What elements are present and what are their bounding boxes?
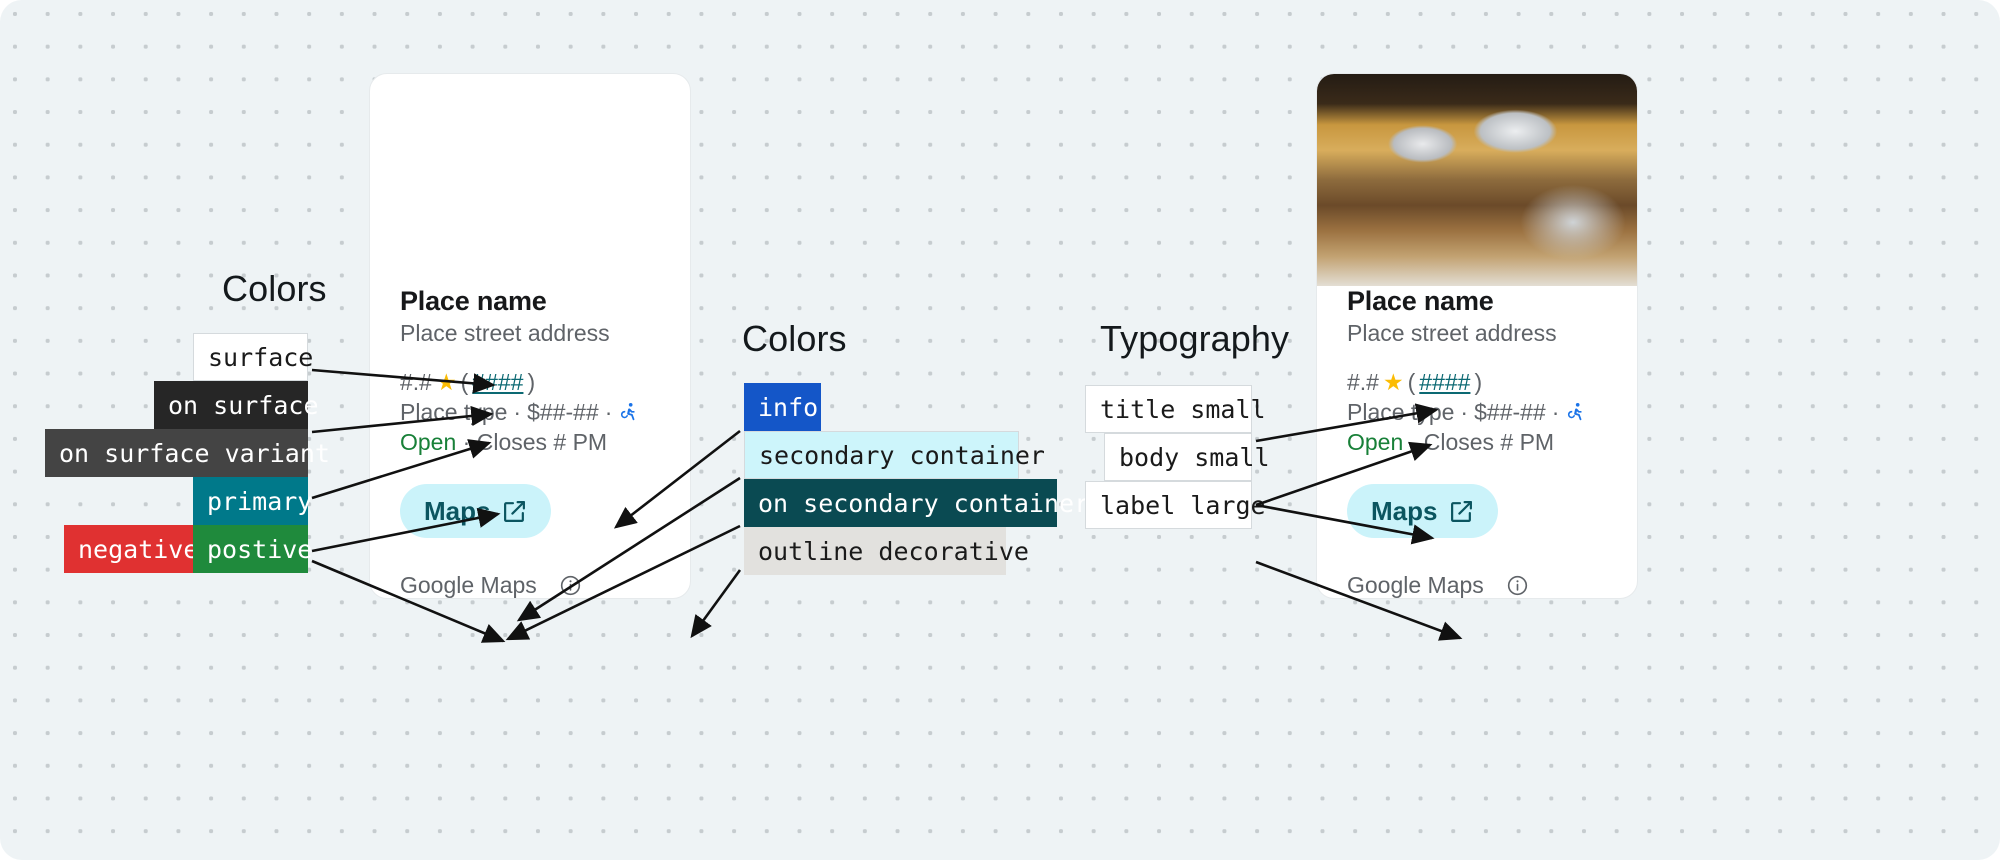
connector-outline-decorative xyxy=(692,570,740,636)
color-chip-on-surface-variant[interactable]: on surface variant xyxy=(45,429,308,477)
color-chip-label: surface xyxy=(208,345,313,370)
rating-paren-open: ( xyxy=(461,369,469,396)
color-chip-label: primary xyxy=(207,489,312,514)
closing-time: Closes # PM xyxy=(1424,429,1554,455)
star-icon: ★ xyxy=(1383,369,1404,396)
color-chip-negative[interactable]: negative xyxy=(64,525,193,573)
open-in-new-icon xyxy=(502,499,527,524)
price-range: $##-## xyxy=(527,399,599,426)
info-circle-icon[interactable] xyxy=(1506,574,1529,597)
place-street-address: Place street address xyxy=(400,320,660,347)
open-status: Open xyxy=(1347,429,1403,455)
maps-button-label: Maps xyxy=(1371,496,1437,527)
rating-value: #.# xyxy=(400,369,432,396)
place-rating-row: #.# ★ (####) xyxy=(400,369,660,396)
place-name: Place name xyxy=(400,286,660,317)
color-chip-primary[interactable]: primary xyxy=(193,477,308,525)
closing-time: Closes # PM xyxy=(477,429,607,455)
color-chip-label: secondary container xyxy=(759,443,1045,468)
color-chip-label: info xyxy=(758,395,818,420)
open-in-new-icon xyxy=(1449,499,1474,524)
section-title-typography: Typography xyxy=(1100,318,1289,360)
place-photo-bakery xyxy=(370,74,690,286)
place-hours-row: Open · Closes # PM xyxy=(400,429,660,456)
color-chip-secondary-container[interactable]: secondary container xyxy=(744,431,1019,479)
color-chip-label: postive xyxy=(207,537,312,562)
place-photo-cafe xyxy=(1317,74,1637,286)
meta-separator-2: · xyxy=(605,399,613,426)
color-chip-label: on secondary container xyxy=(758,491,1089,516)
place-rating-row: #.# ★ (####) xyxy=(1347,369,1607,396)
place-name: Place name xyxy=(1347,286,1607,317)
place-card-right[interactable]: Place name Place street address #.# ★ (#… xyxy=(1316,73,1638,599)
type-chip-label: title small xyxy=(1100,397,1266,422)
card-footer: Google Maps xyxy=(400,572,660,599)
price-range: $##-## xyxy=(1474,399,1546,426)
place-meta-row: Place type · $##-## · xyxy=(400,399,660,426)
rating-paren-close: ) xyxy=(527,369,535,396)
type-chip-label: body small xyxy=(1119,445,1270,470)
place-type: Place type xyxy=(400,399,507,426)
color-chip-label: outline decorative xyxy=(758,539,1029,564)
footer-attribution: Google Maps xyxy=(400,572,537,599)
maps-button[interactable]: Maps xyxy=(400,484,551,538)
color-chip-info[interactable]: info xyxy=(744,383,821,431)
meta-separator-2: · xyxy=(1552,399,1560,426)
color-chip-on-secondary-container[interactable]: on secondary container xyxy=(744,479,1057,527)
hours-separator: · xyxy=(463,429,471,455)
type-chip-body-small[interactable]: body small xyxy=(1104,433,1252,481)
section-title-colors-left: Colors xyxy=(222,268,327,310)
type-chip-title-small[interactable]: title small xyxy=(1085,385,1252,433)
meta-separator-1: · xyxy=(513,399,521,426)
wheelchair-accessible-icon xyxy=(1565,402,1586,423)
color-chip-on-surface[interactable]: on surface xyxy=(154,381,308,429)
color-chip-surface[interactable]: surface xyxy=(193,333,308,381)
maps-button[interactable]: Maps xyxy=(1347,484,1498,538)
place-card-body: Place name Place street address #.# ★ (#… xyxy=(1317,286,1637,599)
rating-paren-open: ( xyxy=(1408,369,1416,396)
place-card-body: Place name Place street address #.# ★ (#… xyxy=(370,286,690,599)
open-status: Open xyxy=(400,429,456,455)
place-street-address: Place street address xyxy=(1347,320,1607,347)
star-icon: ★ xyxy=(436,369,457,396)
hours-separator: · xyxy=(1410,429,1418,455)
color-chip-label: on surface variant xyxy=(59,441,330,466)
maps-button-label: Maps xyxy=(424,496,490,527)
meta-separator-1: · xyxy=(1460,399,1468,426)
rating-value: #.# xyxy=(1347,369,1379,396)
place-type: Place type xyxy=(1347,399,1454,426)
footer-attribution: Google Maps xyxy=(1347,572,1484,599)
color-chip-postive[interactable]: postive xyxy=(193,525,308,573)
review-count-link[interactable]: #### xyxy=(1419,369,1470,396)
place-card-center[interactable]: Place name Place street address #.# ★ (#… xyxy=(369,73,691,599)
wheelchair-accessible-icon xyxy=(618,402,639,423)
color-chip-label: on surface xyxy=(168,393,319,418)
place-meta-row: Place type · $##-## · xyxy=(1347,399,1607,426)
place-hours-row: Open · Closes # PM xyxy=(1347,429,1607,456)
color-chip-outline-decorative[interactable]: outline decorative xyxy=(744,527,1006,575)
color-chip-label: negative xyxy=(78,537,198,562)
info-circle-icon[interactable] xyxy=(559,574,582,597)
section-title-colors-mid: Colors xyxy=(742,318,847,360)
review-count-link[interactable]: #### xyxy=(472,369,523,396)
design-canvas: Colors Colors Typography surface on surf… xyxy=(0,0,2000,860)
card-footer: Google Maps xyxy=(1347,572,1607,599)
rating-paren-close: ) xyxy=(1474,369,1482,396)
type-chip-label: label large xyxy=(1100,493,1266,518)
type-chip-label-large[interactable]: label large xyxy=(1085,481,1252,529)
